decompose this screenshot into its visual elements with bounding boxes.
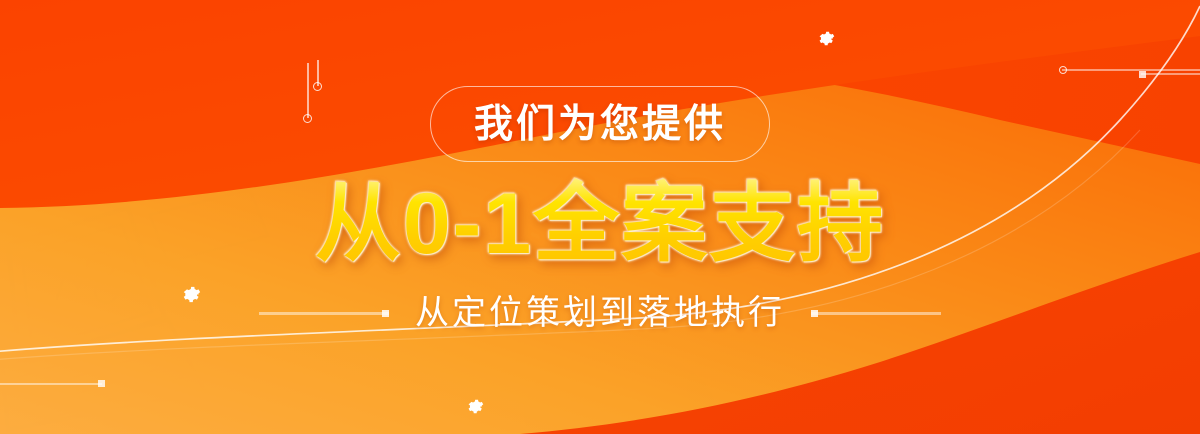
subtitle-rule-right <box>811 312 941 315</box>
promo-banner: 我们为您提供 从0-1全案支持 从定位策划到落地执行 <box>0 0 1200 434</box>
subtitle-rule-left-cap-icon <box>382 310 389 317</box>
eyebrow-text: 我们为您提供 <box>474 105 726 144</box>
subtitle-row: 从定位策划到落地执行 <box>259 296 941 330</box>
subtitle-rule-right-cap-icon <box>811 310 818 317</box>
subtitle-text: 从定位策划到落地执行 <box>415 296 785 330</box>
subtitle-rule-left <box>259 312 389 315</box>
eyebrow-pill: 我们为您提供 <box>430 86 770 162</box>
banner-content: 我们为您提供 从0-1全案支持 从定位策划到落地执行 <box>0 0 1200 434</box>
page-title: 从0-1全案支持 <box>315 178 885 271</box>
